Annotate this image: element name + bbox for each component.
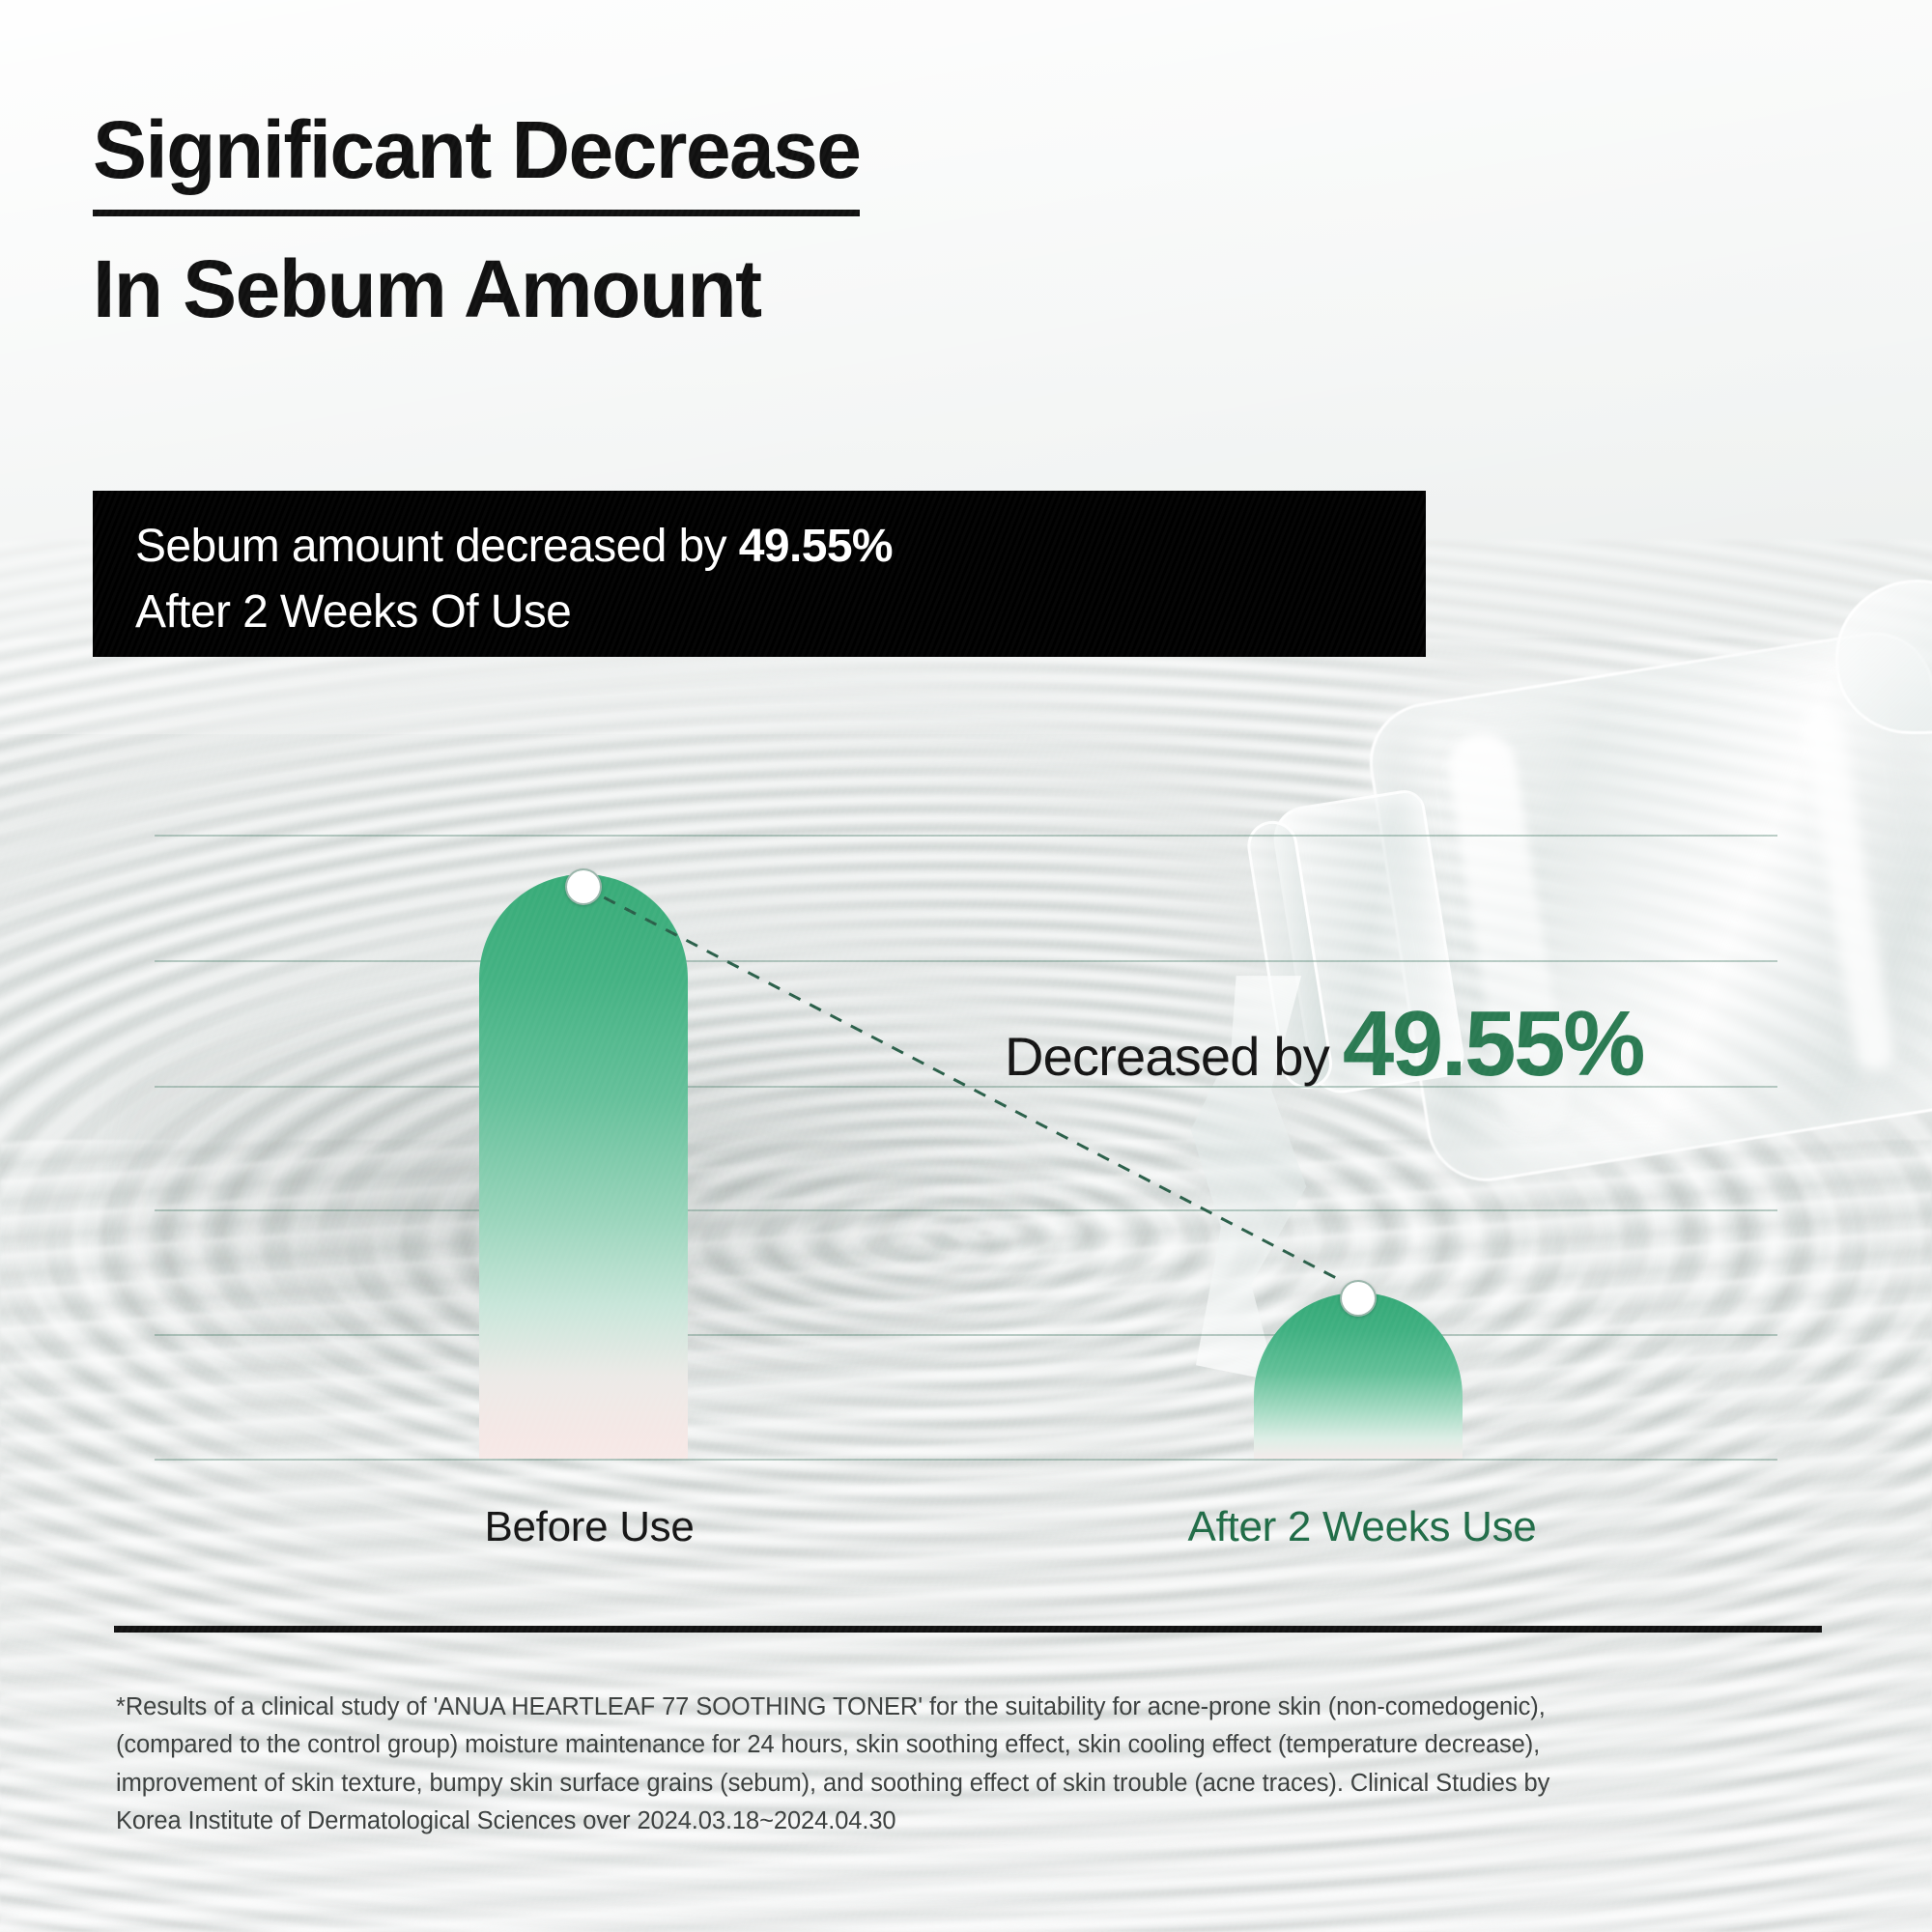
footnote: *Results of a clinical study of 'ANUA HE… — [116, 1689, 1797, 1840]
gridline — [155, 1334, 1777, 1336]
decrease-callout-text: Decreased by — [1005, 1025, 1329, 1088]
footnote-line-3: improvement of skin texture, bumpy skin … — [116, 1765, 1797, 1803]
axis-label-before-use: Before Use — [348, 1503, 831, 1551]
sebum-bar-chart: Before Use After 2 Weeks Use Decreased b… — [0, 0, 1932, 1932]
data-point-before-use — [565, 868, 602, 905]
data-point-after-2-weeks — [1340, 1280, 1377, 1317]
gridline — [155, 960, 1777, 962]
gridline — [155, 1459, 1777, 1461]
footer-divider — [114, 1626, 1822, 1633]
footnote-line-2: (compared to the control group) moisture… — [116, 1726, 1797, 1764]
gridline — [155, 835, 1777, 837]
decrease-callout-percent: 49.55% — [1343, 1003, 1643, 1086]
bar-before-use — [479, 874, 688, 1459]
bar-after-2-weeks — [1254, 1293, 1463, 1459]
axis-label-after-2-weeks: After 2 Weeks Use — [1082, 1503, 1642, 1551]
footnote-line-1: *Results of a clinical study of 'ANUA HE… — [116, 1689, 1797, 1726]
decrease-callout: Decreased by 49.55% — [1005, 1003, 1643, 1088]
gridline — [155, 1209, 1777, 1211]
footnote-line-4: Korea Institute of Dermatological Scienc… — [116, 1803, 1797, 1840]
